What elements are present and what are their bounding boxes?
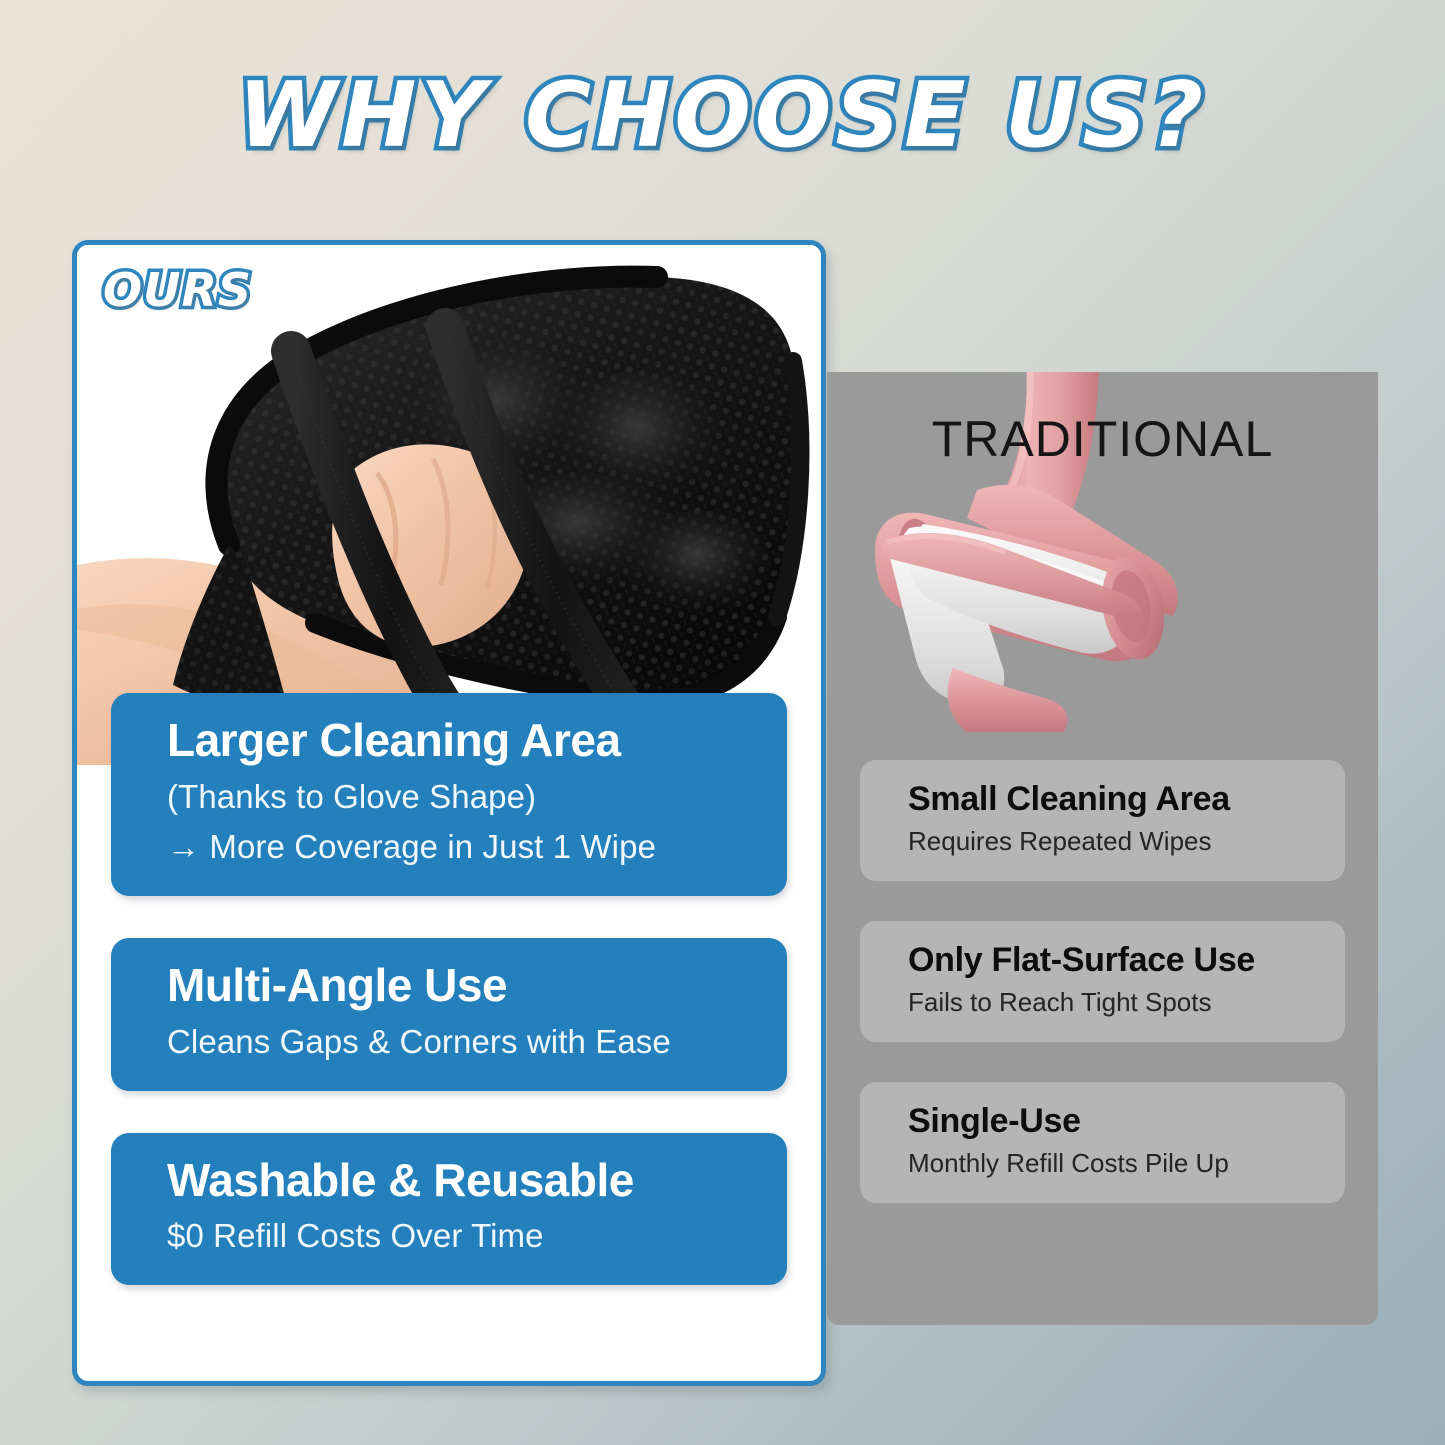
ours-feature-line: Cleans Gaps & Corners with Ease <box>167 1020 757 1065</box>
traditional-drawback-list: Small Cleaning Area Requires Repeated Wi… <box>827 760 1378 1243</box>
ours-feature-line: → More Coverage in Just 1 Wipe <box>167 825 757 870</box>
ours-feature-line: $0 Refill Costs Over Time <box>167 1214 757 1259</box>
traditional-drawback-title: Small Cleaning Area <box>908 780 1321 819</box>
traditional-drawback-title: Single-Use <box>908 1102 1321 1141</box>
glove-product-photo: OURS <box>77 245 821 765</box>
traditional-drawback-sub: Fails to Reach Tight Spots <box>908 986 1321 1020</box>
traditional-drawback-card: Small Cleaning Area Requires Repeated Wi… <box>860 760 1345 881</box>
ours-feature-list: Larger Cleaning Area (Thanks to Glove Sh… <box>77 693 821 1327</box>
traditional-panel: TRADITIONAL Small Cleaning Area Requires… <box>827 372 1378 1325</box>
ours-feature-title: Larger Cleaning Area <box>167 715 757 767</box>
ours-feature-card: Multi-Angle Use Cleans Gaps & Corners wi… <box>111 938 787 1090</box>
traditional-label: TRADITIONAL <box>827 410 1378 468</box>
ours-feature-card: Washable & Reusable $0 Refill Costs Over… <box>111 1133 787 1285</box>
ours-badge: OURS <box>103 263 252 317</box>
traditional-drawback-card: Single-Use Monthly Refill Costs Pile Up <box>860 1082 1345 1203</box>
traditional-drawback-title: Only Flat-Surface Use <box>908 941 1321 980</box>
infographic-root: WHY CHOOSE US? <box>0 0 1445 1445</box>
ours-feature-line: (Thanks to Glove Shape) <box>167 775 757 820</box>
ours-feature-card: Larger Cleaning Area (Thanks to Glove Sh… <box>111 693 787 896</box>
ours-feature-title: Multi-Angle Use <box>167 960 757 1012</box>
page-title: WHY CHOOSE US? <box>238 63 1207 168</box>
traditional-drawback-sub: Requires Repeated Wipes <box>908 825 1321 859</box>
traditional-drawback-sub: Monthly Refill Costs Pile Up <box>908 1147 1321 1181</box>
traditional-drawback-card: Only Flat-Surface Use Fails to Reach Tig… <box>860 921 1345 1042</box>
page-title-wrap: WHY CHOOSE US? <box>0 60 1445 170</box>
ours-panel: OURS Larger Cleaning Area (Thanks to Glo… <box>72 240 826 1386</box>
ours-feature-title: Washable & Reusable <box>167 1155 757 1207</box>
glove-illustration <box>77 245 821 765</box>
